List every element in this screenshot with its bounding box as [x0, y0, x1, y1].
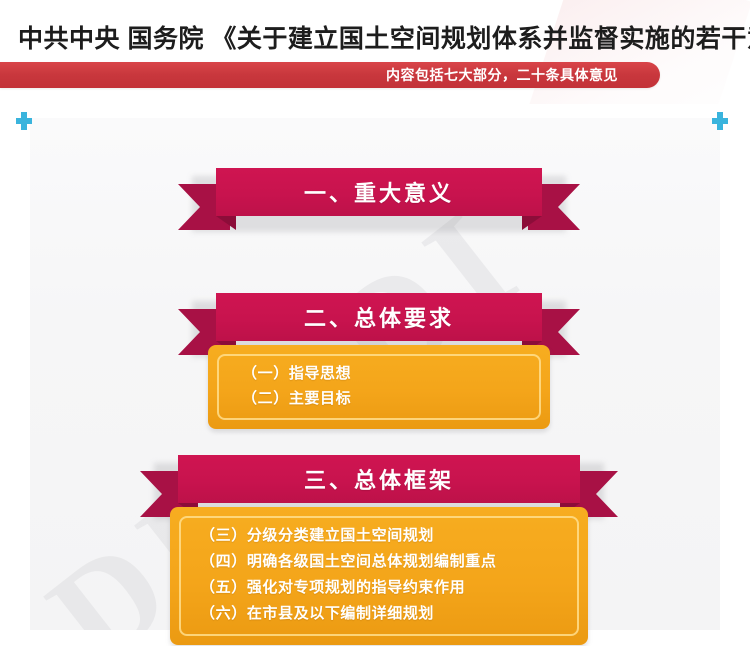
section-title-3: 三、总体框架: [178, 455, 580, 503]
list-item[interactable]: （六）在市县及以下编制详细规划: [200, 601, 588, 627]
page-title: 中共中央 国务院 《关于建立国土空间规划体系并监督实施的若干意见》: [18, 23, 750, 56]
section-group-3: 三、总体框架 （三）分级分类建立国土空间规划 （四）明确各级国土空间总体规划编制…: [140, 455, 618, 645]
header-subtitle-text: 内容包括七大部分，二十条具体意见: [386, 62, 618, 88]
ribbon-face-2: 二、总体要求: [216, 293, 542, 341]
list-item-label: 分级分类建立国土空间规划: [247, 527, 434, 544]
ribbon-banner-3[interactable]: 三、总体框架: [140, 455, 618, 515]
ribbon-banner-1[interactable]: 一、重大意义: [178, 168, 580, 228]
section-title-1: 一、重大意义: [216, 168, 542, 216]
list-item-number: （六）: [200, 601, 247, 627]
section-title-2: 二、总体要求: [216, 293, 542, 341]
list-item[interactable]: （一）指导思想: [242, 361, 550, 386]
list-item-label: 指导思想: [289, 365, 351, 382]
list-item[interactable]: （五）强化对专项规划的指导约束作用: [200, 575, 588, 601]
list-item-label: 强化对专项规划的指导约束作用: [247, 579, 465, 596]
section-item-list-2: （一）指导思想 （二）主要目标: [208, 361, 550, 411]
list-item[interactable]: （二）主要目标: [242, 386, 550, 411]
list-item-number: （二）: [242, 386, 289, 411]
list-item-number: （一）: [242, 361, 289, 386]
list-item[interactable]: （三）分级分类建立国土空间规划: [200, 523, 588, 549]
header-subtitle-bar: 内容包括七大部分，二十条具体意见: [0, 62, 660, 88]
cross-marker-left-icon: [16, 112, 32, 130]
section-content-box-2: （一）指导思想 （二）主要目标: [208, 345, 550, 429]
ribbon-face-1: 一、重大意义: [216, 168, 542, 216]
section-group-1: 一、重大意义: [178, 168, 580, 228]
list-item-number: （四）: [200, 549, 247, 575]
section-group-2: 二、总体要求 （一）指导思想 （二）主要目标: [178, 293, 580, 429]
cross-marker-right-icon: [712, 112, 728, 130]
list-item-label: 明确各级国土空间总体规划编制重点: [247, 553, 497, 570]
list-item-label: 在市县及以下编制详细规划: [247, 605, 434, 622]
list-item[interactable]: （四）明确各级国土空间总体规划编制重点: [200, 549, 588, 575]
page-header: 中共中央 国务院 《关于建立国土空间规划体系并监督实施的若干意见》 内容包括七大…: [0, 0, 750, 104]
list-item-number: （三）: [200, 523, 247, 549]
list-item-number: （五）: [200, 575, 247, 601]
ribbon-banner-2[interactable]: 二、总体要求: [178, 293, 580, 353]
section-content-box-3: （三）分级分类建立国土空间规划 （四）明确各级国土空间总体规划编制重点 （五）强…: [170, 507, 588, 645]
list-item-label: 主要目标: [289, 390, 351, 407]
section-item-list-3: （三）分级分类建立国土空间规划 （四）明确各级国土空间总体规划编制重点 （五）强…: [170, 523, 588, 627]
ribbon-face-3: 三、总体框架: [178, 455, 580, 503]
